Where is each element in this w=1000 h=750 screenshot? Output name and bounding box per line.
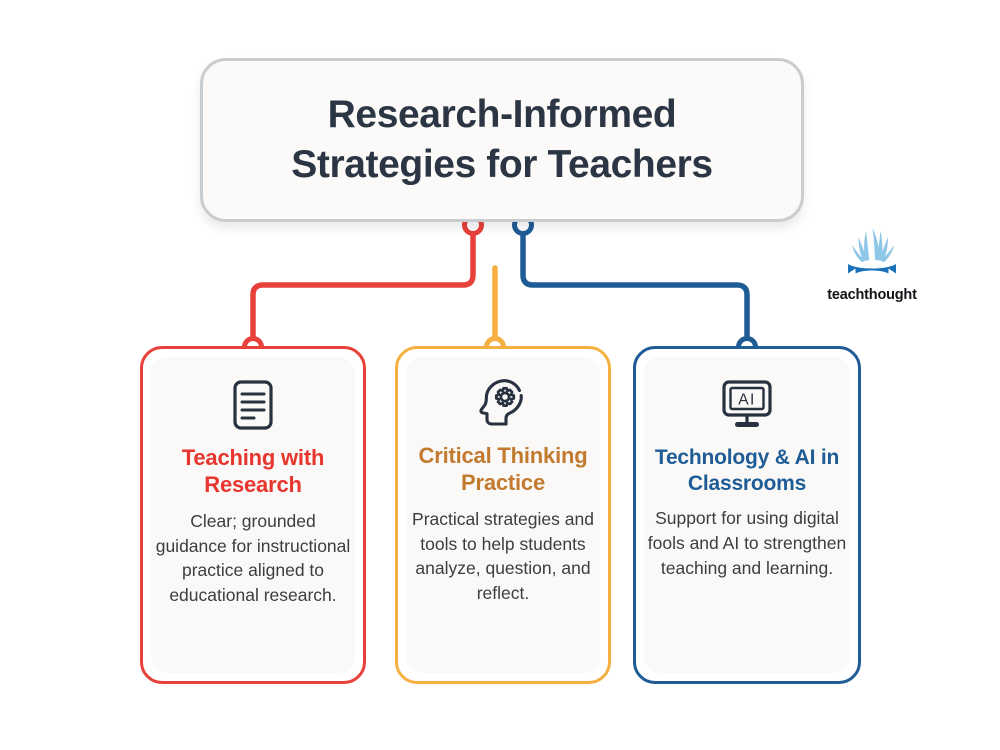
page-title-line-2: Strategies for Teachers — [291, 143, 712, 186]
page-title-line-1: Research-Informed — [328, 93, 677, 136]
teachthought-logo[interactable]: teachthought — [813, 226, 931, 308]
head-gear-icon — [475, 375, 531, 431]
card-title: Teaching with Research — [143, 445, 363, 499]
card-body: Practical strategies and tools to help s… — [398, 507, 608, 606]
card-title: Technology & AI in Classrooms — [636, 445, 858, 496]
card-teaching-with-research[interactable]: Teaching with Research Clear; grounded g… — [140, 346, 366, 684]
ai-monitor-icon: AI — [719, 377, 775, 433]
card-critical-thinking-practice[interactable]: Critical Thinking Practice Practical str… — [395, 346, 611, 684]
main-title-box: Research-Informed Strategies for Teacher… — [200, 58, 804, 222]
card-body: Clear; grounded guidance for instruction… — [143, 509, 363, 608]
page-title: Research-Informed Strategies for Teacher… — [273, 90, 730, 190]
logo-wordmark: teachthought — [827, 287, 916, 303]
card-technology-ai-in-classrooms[interactable]: AI Technology & AI in Classrooms Support… — [633, 346, 861, 684]
blue-branch-path — [523, 228, 747, 347]
infographic-canvas: Research-Informed Strategies for Teacher… — [0, 0, 1000, 750]
card-title: Critical Thinking Practice — [398, 443, 608, 497]
card-body: Support for using digital fools and AI t… — [636, 506, 858, 581]
svg-text:AI: AI — [738, 392, 755, 409]
teachthought-mark-icon — [839, 226, 905, 286]
document-lines-icon — [225, 377, 281, 433]
red-branch-path — [253, 228, 473, 347]
